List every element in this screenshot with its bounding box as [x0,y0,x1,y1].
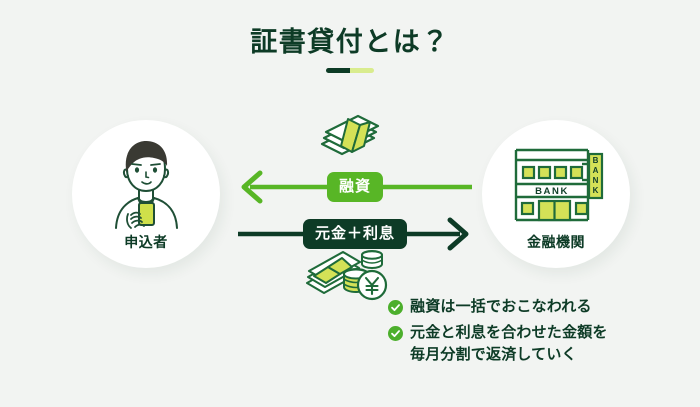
page-title: 証書貸付とは？ [0,26,700,58]
node-applicant-label: 申込者 [124,232,168,252]
node-bank-label: 金融機関 [527,232,585,252]
node-applicant: 申込者 [72,120,220,268]
note-text-line-2: 毎月分割で返済していく [410,346,577,363]
page-title-block: 証書貸付とは？ [0,26,700,73]
bank-building-icon: BANK B A N K [506,138,606,230]
svg-text:A: A [593,166,599,175]
svg-text:N: N [593,176,599,185]
repay-arrow-row: 元金＋利息 [236,217,474,251]
check-circle-icon [388,326,403,341]
title-underline [326,68,374,73]
loan-arrow-row: 融資 [236,170,474,204]
bank-sign-horizontal-text: BANK [535,186,569,197]
title-underline-dark-segment [326,68,350,73]
banknotes-and-coins-yen-icon [304,247,390,303]
svg-text:K: K [593,186,599,195]
title-underline-light-segment [350,68,374,73]
svg-text:B: B [593,156,599,165]
node-bank: BANK B A N K 金融機関 [482,120,630,268]
person-with-phone-icon [96,138,196,230]
notes-list: 融資は一括でおこなわれる 元金と利息を合わせた金額を 毎月分割で返済していく [388,296,688,369]
note-text-line-1: 元金と利息を合わせた金額を [410,324,608,341]
repay-arrow-label: 元金＋利息 [303,219,407,249]
note-text-multiline: 元金と利息を合わせた金額を 毎月分割で返済していく [410,322,608,366]
list-item: 元金と利息を合わせた金額を 毎月分割で返済していく [388,322,688,366]
list-item: 融資は一括でおこなわれる [388,296,688,318]
banknote-stack-icon [318,110,380,160]
infographic-canvas: 証書貸付とは？ [0,0,700,407]
check-circle-icon [388,300,403,315]
flow-area: 融資 元金＋利息 [236,105,474,305]
note-text: 融資は一括でおこなわれる [410,296,592,318]
loan-arrow-label: 融資 [327,172,383,202]
